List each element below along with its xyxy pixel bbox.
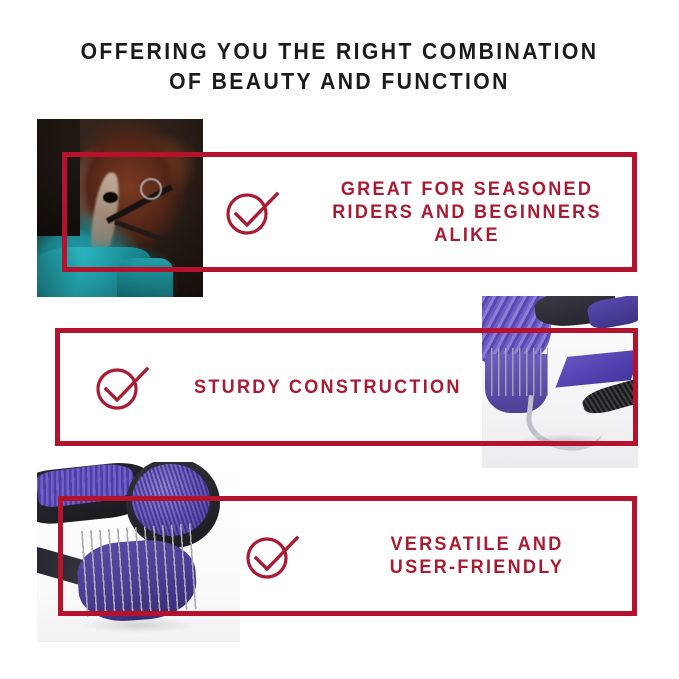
feature-2-row: Sturdy construction xyxy=(60,328,482,446)
feature-1-row: Great for seasoned riders and beginners … xyxy=(203,152,637,272)
feature-3-label: Versatile and user-friendly xyxy=(325,533,629,579)
check-circle-icon xyxy=(95,361,153,413)
feature-3-row: Versatile and user-friendly xyxy=(240,496,637,616)
product-feature-infographic: Offering you the right combination of be… xyxy=(0,0,679,679)
feature-2-label: Sturdy construction xyxy=(194,376,462,399)
check-circle-icon xyxy=(245,530,303,582)
feature-1-label: Great for seasoned riders and beginners … xyxy=(306,178,629,247)
brush-shadow xyxy=(82,617,196,633)
check-circle-icon xyxy=(225,186,283,238)
page-title: Offering you the right combination of be… xyxy=(27,36,652,96)
